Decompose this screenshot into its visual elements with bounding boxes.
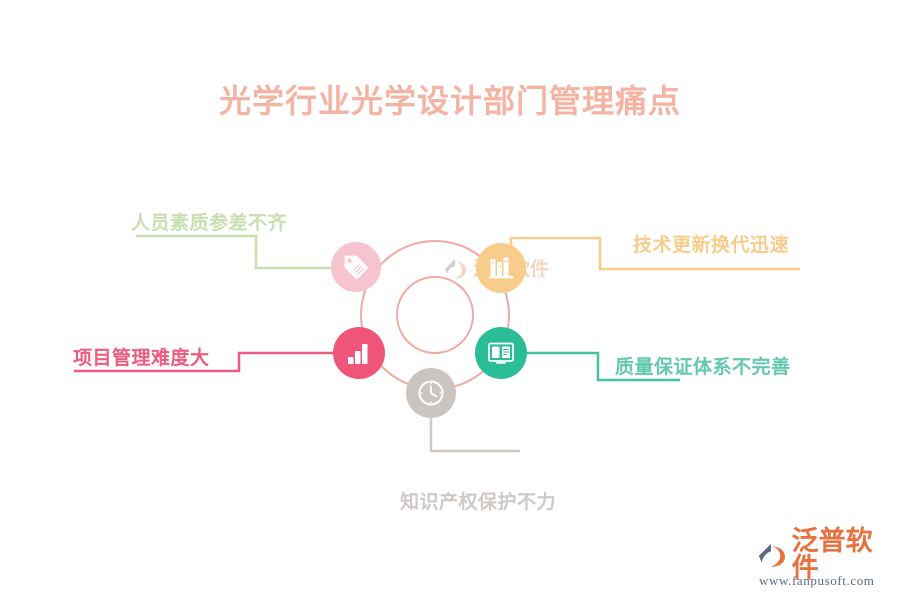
hub-inner-ring [396, 276, 474, 354]
bookshelf-icon [488, 255, 514, 281]
node-label-technology: 技术更新换代迅速 [633, 230, 789, 257]
brand-url: www.fanpusoft.com [759, 573, 892, 589]
node-icon-quality[interactable] [475, 327, 527, 379]
page-title: 光学行业光学设计部门管理痛点 [0, 76, 900, 122]
node-label-quality: 质量保证体系不完善 [615, 352, 791, 379]
brand-row: 泛普软件 [757, 539, 892, 571]
node-icon-technology[interactable] [476, 243, 526, 293]
bar-chart-icon [346, 340, 373, 367]
connector-ip [431, 415, 520, 451]
node-icon-project[interactable] [333, 327, 385, 379]
node-label-ip: 知识产权保护不力 [400, 487, 556, 514]
node-icon-staff[interactable] [331, 242, 381, 292]
node-icon-ip[interactable] [406, 368, 456, 418]
node-label-staff: 人员素质参差不齐 [131, 208, 287, 235]
clock-icon [416, 378, 446, 408]
fanpu-logo-mark-icon [757, 540, 789, 570]
connector-staff [136, 236, 334, 268]
infographic-canvas: 光学行业光学设计部门管理痛点 泛普软件 FANPU SOFTWARE [0, 0, 900, 600]
brand-logo: 泛普软件 www.fanpusoft.com [757, 539, 892, 591]
price-tag-icon [343, 254, 369, 280]
node-label-project: 项目管理难度大 [73, 343, 210, 370]
open-book-icon [487, 339, 515, 367]
